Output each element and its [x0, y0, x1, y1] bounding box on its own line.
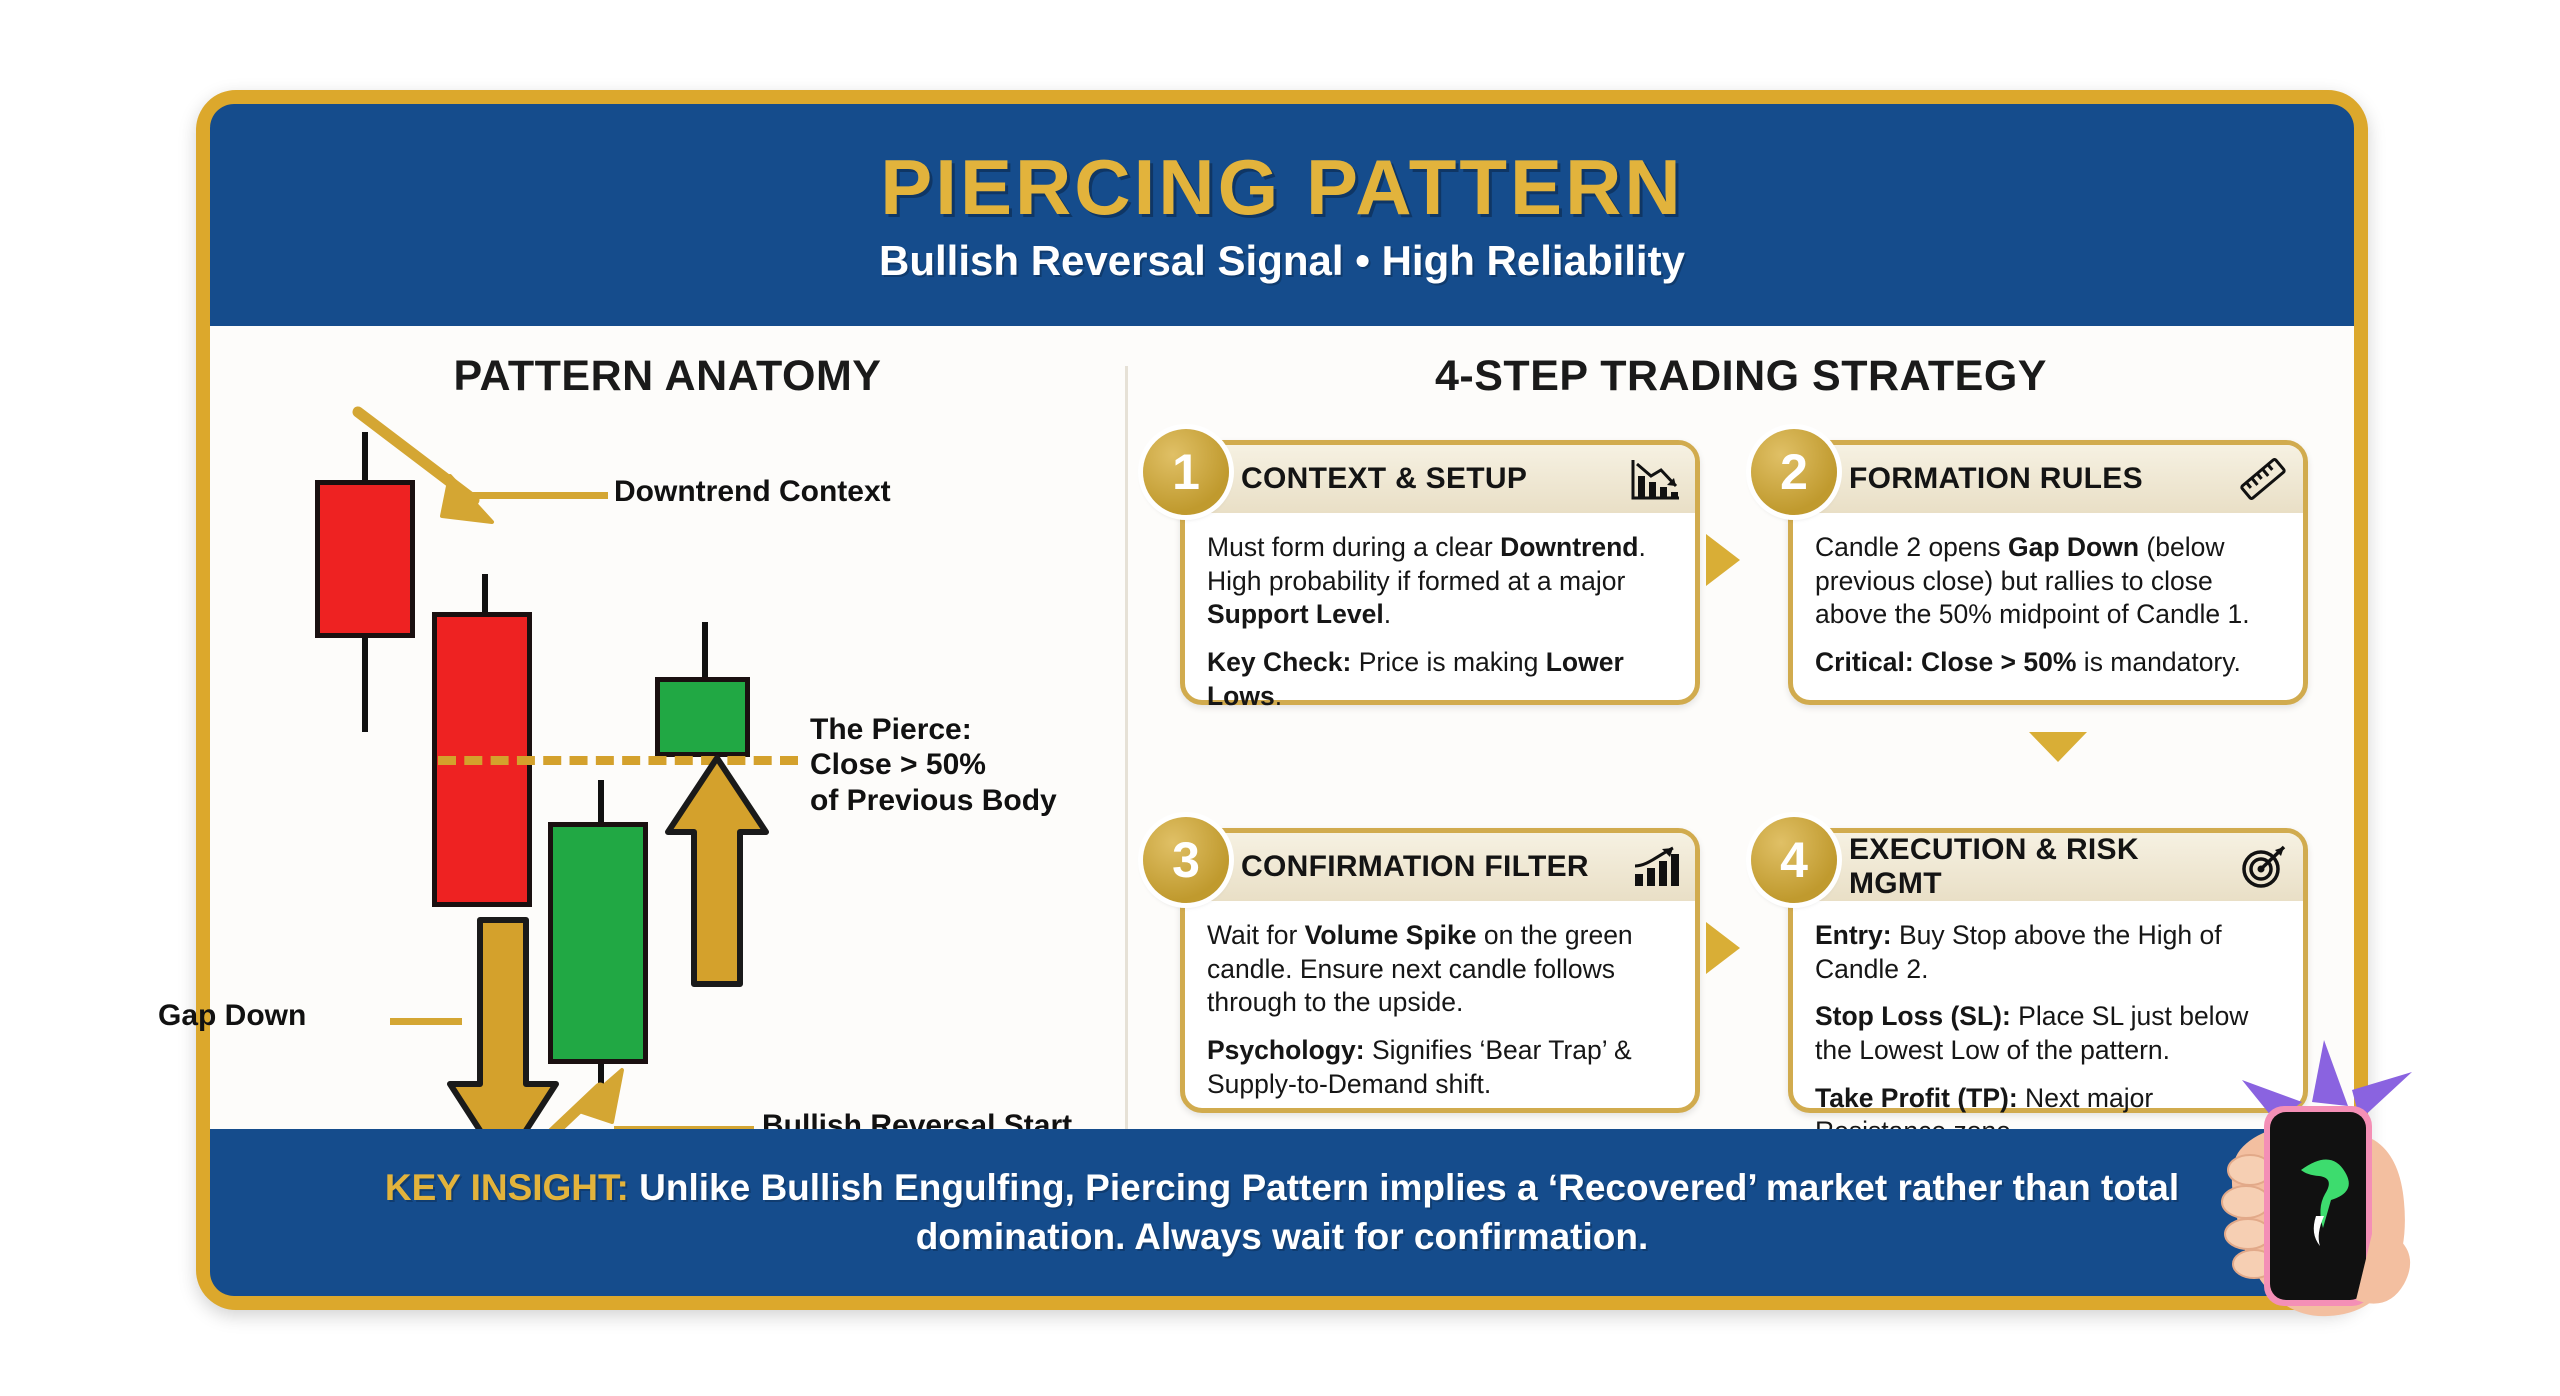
connector-arrow-3-to-4 — [1706, 922, 1740, 974]
label-pierce-line3: of Previous Body — [810, 783, 1057, 818]
card-1-body: Must form during a clear Downtrend. High… — [1185, 513, 1695, 729]
card-3-body: Wait for Volume Spike on the green candl… — [1185, 901, 1695, 1117]
key-insight-text: KEY INSIGHT: Unlike Bullish Engulfing, P… — [332, 1164, 2232, 1262]
pierce-up-arrow-icon — [662, 752, 772, 992]
key-insight-body: Unlike Bullish Engulfing, Piercing Patte… — [629, 1167, 2179, 1257]
strategy-card-grid: 1 CONTEXT & SETUP — [1168, 422, 2308, 1212]
connector-arrow-2-to-4 — [2029, 732, 2087, 762]
card-3-header: CONFIRMATION FILTER — [1185, 833, 1695, 901]
label-pierce-line2: Close > 50% — [810, 747, 1057, 782]
candlestick-diagram: Downtrend Context The Pierce: Close > 50… — [210, 422, 1125, 1212]
gap-down-leader-line — [390, 1018, 462, 1025]
rising-bar-chart-icon — [1629, 844, 1681, 890]
pattern-anatomy-panel: PATTERN ANATOMY — [210, 326, 1125, 1231]
strategy-card-3[interactable]: 3 CONFIRMATION FILTER — [1180, 828, 1700, 1113]
hand-holding-phone-icon — [2206, 1010, 2446, 1340]
step-number-3: 3 — [1143, 817, 1229, 903]
content-area: PATTERN ANATOMY — [210, 326, 2354, 1231]
infographic-canvas: PIERCING PATTERN Bullish Reversal Signal… — [0, 0, 2560, 1396]
card-1-title: CONTEXT & SETUP — [1241, 462, 1629, 496]
declining-bar-chart-icon — [1629, 456, 1681, 502]
strategy-section-title: 4-STEP TRADING STRATEGY — [1128, 352, 2354, 401]
candle-4-body — [655, 677, 750, 757]
card-4-header: EXECUTION & RISK MGMT — [1793, 833, 2303, 901]
infographic-frame: PIERCING PATTERN Bullish Reversal Signal… — [196, 90, 2368, 1310]
label-pierce-line1: The Pierce: — [810, 712, 1057, 747]
label-gap-down: Gap Down — [158, 998, 306, 1033]
strategy-panel: 4-STEP TRADING STRATEGY 1 CONTEXT & SETU… — [1128, 326, 2354, 1231]
step-number-2: 2 — [1751, 429, 1837, 515]
header-banner: PIERCING PATTERN Bullish Reversal Signal… — [210, 104, 2354, 326]
card-1-header: CONTEXT & SETUP — [1185, 445, 1695, 513]
target-dart-icon — [2237, 844, 2289, 890]
key-insight-keyword: KEY INSIGHT: — [385, 1167, 629, 1208]
card-2-title: FORMATION RULES — [1849, 462, 2237, 496]
key-insight-bar: KEY INSIGHT: Unlike Bullish Engulfing, P… — [210, 1129, 2354, 1296]
ruler-icon — [2237, 456, 2289, 502]
page-title: PIERCING PATTERN — [880, 148, 1683, 226]
card-2-header: FORMATION RULES — [1793, 445, 2303, 513]
label-downtrend-context: Downtrend Context — [614, 474, 891, 509]
card-4-title: EXECUTION & RISK MGMT — [1849, 833, 2237, 901]
strategy-card-1[interactable]: 1 CONTEXT & SETUP — [1180, 440, 1700, 705]
step-number-4: 4 — [1751, 817, 1837, 903]
card-2-body: Candle 2 opens Gap Down (below previous … — [1793, 513, 2303, 696]
label-the-pierce: The Pierce: Close > 50% of Previous Body — [810, 712, 1057, 818]
downtrend-arrow-icon — [342, 404, 542, 544]
connector-arrow-1-to-2 — [1706, 534, 1740, 586]
card-3-title: CONFIRMATION FILTER — [1241, 850, 1629, 884]
page-subtitle: Bullish Reversal Signal • High Reliabili… — [879, 240, 1685, 282]
step-number-1: 1 — [1143, 429, 1229, 515]
anatomy-section-title: PATTERN ANATOMY — [210, 352, 1125, 401]
strategy-card-2[interactable]: 2 FORMATION RULES Candle 2 opens Gap Dow… — [1788, 440, 2308, 705]
